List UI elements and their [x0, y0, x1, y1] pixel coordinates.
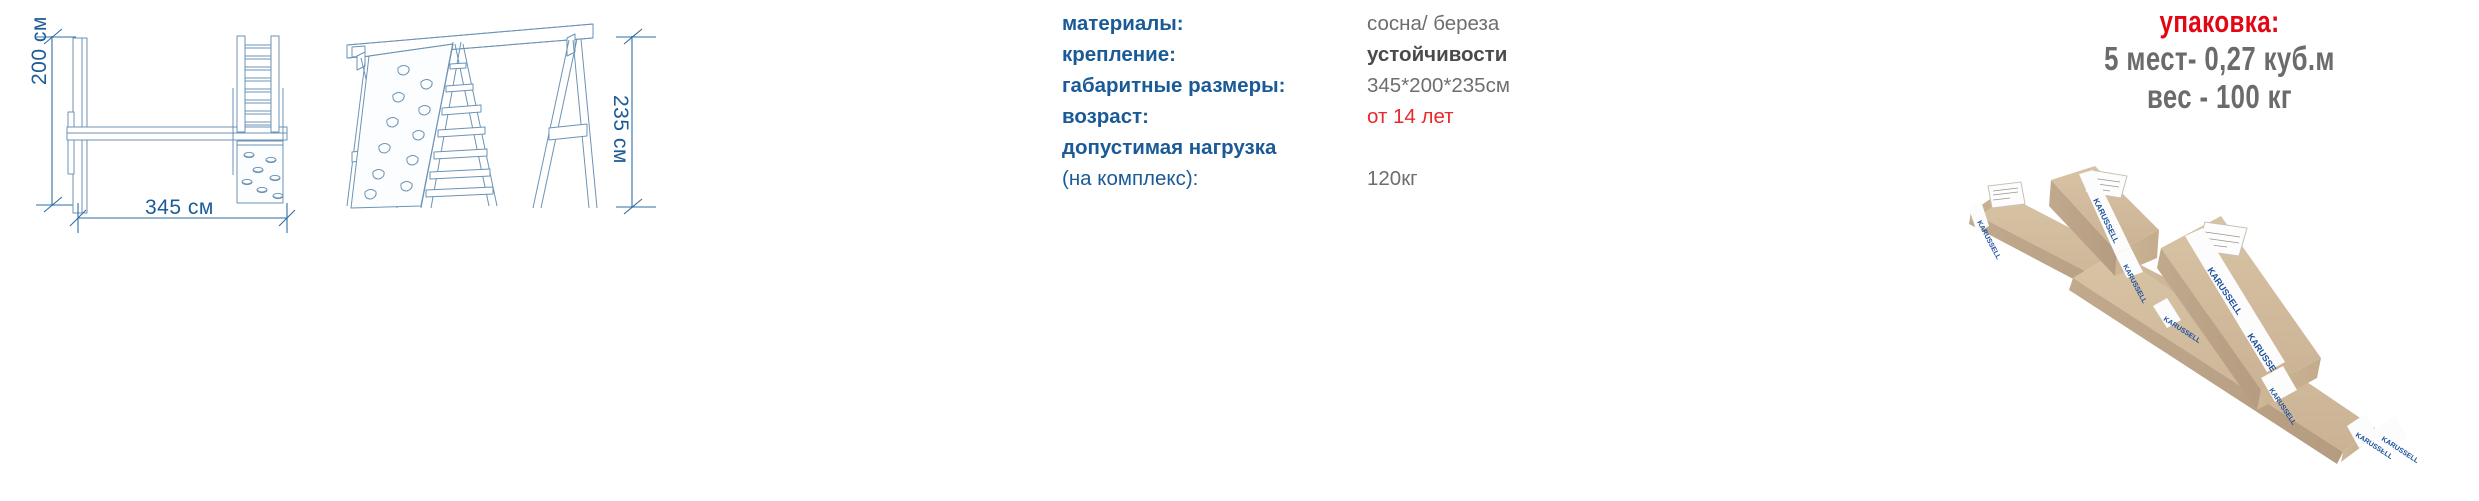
spec-label-load: допустимая нагрузка — [1062, 132, 1362, 163]
specification-table: материалы: сосна/ береза крепление: усто… — [1062, 8, 1942, 194]
spec-row-age: возраст: от 14 лет — [1062, 101, 1942, 132]
spec-value-dimensions: 345*200*235см — [1362, 70, 1510, 101]
dimension-label-height-235: 235 см — [608, 95, 632, 164]
product-spec-sheet: 200 см 345 см — [0, 0, 2479, 501]
spec-row-load-per-set: (на комплекс): 120кг — [1062, 163, 1942, 194]
spec-row-materials: материалы: сосна/ береза — [1062, 8, 1942, 39]
spec-label-dimensions: габаритные размеры: — [1062, 70, 1362, 101]
dimension-label-height-200: 200 см — [28, 16, 52, 85]
spec-row-load: допустимая нагрузка — [1062, 132, 1942, 163]
spec-value-mounting: устойчивости — [1362, 39, 1507, 70]
spec-label-age: возраст: — [1062, 101, 1362, 132]
packaging-volume: 5 мест- 0,27 куб.м — [2017, 40, 2422, 78]
package-tail: KARUSSELL — [2373, 416, 2420, 465]
packaging-info: упаковка: 5 мест- 0,27 куб.м вес - 100 к… — [1960, 4, 2479, 116]
spec-value-materials: сосна/ береза — [1362, 8, 1499, 39]
packaging-title: упаковка: — [2017, 4, 2422, 40]
dimension-label-width-345: 345 см — [145, 196, 214, 220]
spec-row-mounting: крепление: устойчивости — [1062, 39, 1942, 70]
spec-row-dimensions: габаритные размеры: 345*200*235см — [1062, 70, 1942, 101]
ladder-rungs — [245, 45, 271, 125]
spec-label-mounting: крепление: — [1062, 39, 1362, 70]
spec-label-load-per-set: (на комплекс): — [1062, 163, 1362, 194]
spec-value-load-per-set: 120кг — [1362, 163, 1418, 194]
packaging-boxes-image: KARUSSELL KARUSSELL KARUSSELL — [1955, 140, 2479, 480]
packaging-weight: вес - 100 кг — [2017, 78, 2422, 116]
spec-value-age: от 14 лет — [1362, 101, 1454, 132]
boxes-svg: KARUSSELL KARUSSELL KARUSSELL — [1955, 140, 2479, 480]
spec-label-materials: материалы: — [1062, 8, 1362, 39]
